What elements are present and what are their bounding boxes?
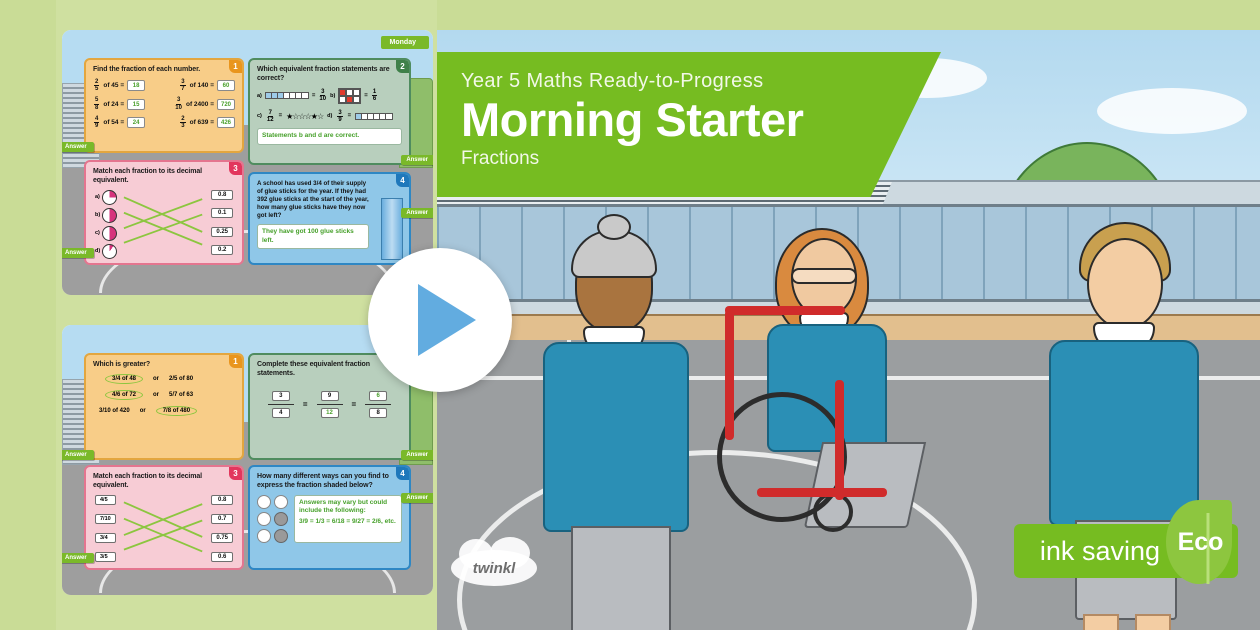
of-text: of 24 = (103, 101, 124, 108)
student-girl-wheelchair (727, 220, 957, 550)
pie-chart-icon (102, 244, 117, 259)
item-label: c) (257, 113, 262, 119)
of-text: of 140 = (190, 82, 214, 89)
answer-box: 24 (127, 117, 145, 128)
jumper (1049, 340, 1199, 526)
answer-tab-q4[interactable]: Answer (401, 493, 433, 503)
fraction-numerator: 5 (94, 97, 99, 104)
jumper (543, 342, 689, 532)
answer-text: They have got 100 glue sticks left. (257, 224, 369, 249)
of-text: of 45 = (103, 82, 124, 89)
or-text: or (153, 376, 159, 382)
decimals-column: 0.8 0.7 0.75 0.6 (211, 495, 233, 563)
decimal-value: 0.6 (211, 552, 233, 562)
decimals-column: 0.8 0.1 0.25 0.2 (211, 190, 233, 256)
compare-row: 4/6 of 72 or 5/7 of 63 (105, 390, 235, 400)
equivalent-row-cd: c) 712 = ★☆☆☆★☆ d) 39 = (257, 110, 402, 124)
fraction-numerator: 4 (94, 116, 99, 123)
compare-left: 4/6 of 72 (105, 390, 143, 400)
slide2-question-3[interactable]: 3 Match each fraction to its decimal equ… (84, 465, 244, 570)
item-label: d) (95, 248, 100, 254)
patka-knot (597, 214, 631, 240)
fraction-denominator: 3 (181, 123, 184, 129)
counters-grid (257, 495, 288, 543)
question-title: Match each fraction to its decimal equiv… (93, 168, 235, 186)
grid-model (338, 88, 361, 104)
decimal-value: 0.8 (211, 495, 233, 505)
slide-thumbnail-1[interactable]: Monday 1 Find the fraction of each numbe… (62, 30, 433, 295)
question-title: Match each fraction to its decimal equiv… (93, 473, 235, 491)
answer-box: 18 (127, 80, 145, 91)
fraction-value: 3/4 (95, 533, 116, 543)
equation-row: 58 of 24 = 15 310 of 2400 = 720 (93, 97, 235, 111)
wheelchair-frame (835, 380, 844, 500)
question-title: How many different ways can you find to … (257, 473, 402, 491)
page-title: Morning Starter (461, 95, 941, 144)
fraction-denominator: 7 (181, 86, 184, 92)
eco-label: ink saving (1040, 536, 1160, 567)
item-label: a) (257, 93, 262, 99)
fraction-denominator: 9 (95, 123, 98, 129)
compare-row: 3/4 of 48 or 2/5 of 80 (105, 374, 235, 384)
wheelchair-footrest (757, 488, 887, 497)
banner-kicker: Year 5 Maths Ready-to-Progress (461, 70, 941, 93)
fraction-cell[interactable]: 4 (272, 408, 290, 418)
equation-row: 49 of 54 = 24 23 of 639 = 426 (93, 116, 235, 130)
answer-text: Statements b and d are correct. (257, 128, 402, 144)
answer-tab-q4[interactable]: Answer (401, 208, 433, 218)
question-number: 4 (396, 174, 409, 187)
glasses-icon (791, 268, 857, 284)
answer-block: Answers may vary but could include the f… (294, 495, 402, 543)
leg (1083, 614, 1119, 630)
answer-box: 720 (217, 99, 235, 110)
compare-row: 3/10 of 420 or 7/8 of 480 (99, 406, 235, 416)
pie-chart-icon (102, 208, 117, 223)
equivalent-row-ab: a) = 310 b) = 16 (257, 88, 402, 104)
student-boy-left (527, 230, 717, 630)
of-text: of 2400 = (186, 101, 214, 108)
fraction-cell[interactable]: 12 (321, 408, 339, 418)
question-title: Which equivalent fraction statements are… (257, 66, 402, 84)
fraction-denominator: 8 (95, 105, 98, 111)
question-number: 4 (396, 467, 409, 480)
compare-left: 3/4 of 48 (105, 374, 143, 384)
or-text: or (153, 392, 159, 398)
star-group-icon: ★☆☆☆★☆ (286, 112, 323, 121)
matching-activity: 4/5 7/10 3/4 3/5 0.8 0.7 0.75 (93, 495, 235, 563)
question-number: 3 (229, 467, 242, 480)
fraction-cell[interactable]: 8 (369, 408, 387, 418)
question-title: A school has used 3/4 of their supply of… (257, 180, 369, 220)
item-label: b) (95, 212, 100, 218)
head (1087, 238, 1163, 330)
answer-tab-q1[interactable]: Answer (62, 450, 94, 460)
eco-badge-text: Eco (1178, 528, 1224, 557)
fraction-cell[interactable]: 6 (369, 391, 387, 401)
banner-subtitle: Fractions (461, 148, 941, 170)
slide1-question-1[interactable]: 1 Find the fraction of each number. 25 o… (84, 58, 244, 153)
matching-activity: a) b) c) d) 0.8 0.1 0.25 (93, 190, 235, 256)
fraction-numerator: 3 (176, 97, 181, 104)
question-title: Complete these equivalent fraction state… (257, 361, 402, 379)
question-number: 1 (229, 355, 242, 368)
answer-tab-q3[interactable]: Answer (62, 553, 94, 563)
wheelchair-frame (725, 306, 845, 315)
fraction-numerator: 2 (180, 116, 185, 123)
bar-model (355, 113, 393, 120)
question-title: Which is greater? (93, 361, 235, 370)
item-label: d) (327, 113, 332, 119)
question-number: 2 (396, 60, 409, 73)
answer-tab-q2[interactable]: Answer (401, 450, 433, 460)
fraction-pies-column: a) b) c) d) (95, 190, 117, 256)
of-text: of 54 = (103, 119, 124, 126)
answer-tab-q2[interactable]: Answer (401, 155, 433, 165)
play-button[interactable] (368, 248, 512, 392)
twinkl-logo: twinkl (451, 550, 537, 586)
decimal-value: 0.8 (211, 190, 233, 200)
pie-chart-icon (102, 226, 117, 241)
answer-title: Answers may vary but could include the f… (299, 499, 397, 516)
decimal-value: 0.25 (211, 227, 233, 237)
leaf-icon: Eco (1166, 500, 1232, 584)
answer-box: 60 (217, 80, 235, 91)
compare-right: 2/5 of 80 (169, 376, 193, 382)
fraction-numerator: 3 (180, 79, 185, 86)
fraction-value: 7/10 (95, 514, 116, 524)
compare-left: 3/10 of 420 (99, 408, 130, 414)
decimal-value: 0.7 (211, 514, 233, 524)
slide2-question-1[interactable]: 1 Which is greater? 3/4 of 48 or 2/5 of … (84, 353, 244, 460)
decimal-value: 0.75 (211, 533, 233, 543)
answer-box: 15 (127, 99, 145, 110)
slide2-question-4[interactable]: 4 How many different ways can you find t… (248, 465, 411, 570)
title-banner: Year 5 Maths Ready-to-Progress Morning S… (437, 52, 941, 197)
fraction-cell[interactable]: 9 (321, 391, 339, 401)
cover-illustration: Year 5 Maths Ready-to-Progress Morning S… (437, 30, 1260, 630)
decimal-value: 0.1 (211, 208, 233, 218)
slide1-question-3[interactable]: 3 Match each fraction to its decimal equ… (84, 160, 244, 265)
play-icon (418, 284, 476, 356)
leg (1135, 614, 1171, 630)
question-number: 3 (229, 162, 242, 175)
item-label: b) (330, 93, 335, 99)
fraction-numerator: 2 (94, 79, 99, 86)
compare-right: 5/7 of 63 (169, 392, 193, 398)
shorts (571, 526, 671, 630)
pie-chart-icon (102, 190, 117, 205)
slide1-question-2[interactable]: 2 Which equivalent fraction statements a… (248, 58, 411, 165)
day-tab-monday[interactable]: Monday (381, 36, 429, 49)
question-title: Find the fraction of each number. (93, 66, 235, 75)
answer-tab-q3[interactable]: Answer (62, 248, 94, 258)
answer-box: 426 (217, 117, 235, 128)
wheelchair-caster-wheel (813, 492, 853, 532)
glue-stick-icon (381, 198, 403, 260)
answer-tab-q1[interactable]: Answer (62, 142, 94, 152)
or-text: or (140, 408, 146, 414)
equivalent-fractions-row: 3 4 = 9 12 = 6 8 (257, 391, 402, 418)
fraction-cell[interactable]: 3 (272, 391, 290, 401)
fraction-denominator: 5 (95, 86, 98, 92)
cloud-icon (1097, 88, 1247, 134)
fraction-value: 3/5 (95, 552, 116, 562)
question-number: 1 (229, 60, 242, 73)
bar-model (265, 92, 309, 99)
decimal-value: 0.2 (211, 245, 233, 255)
slideshow-preview-page: Monday 1 Find the fraction of each numbe… (0, 0, 1260, 630)
item-label: a) (95, 194, 100, 200)
slide-thumbnail-2[interactable]: 1 Which is greater? 3/4 of 48 or 2/5 of … (62, 325, 433, 595)
wheelchair-frame (725, 310, 734, 440)
compare-right: 7/8 of 480 (156, 406, 197, 416)
item-label: c) (95, 230, 100, 236)
of-text: of 639 = (190, 119, 214, 126)
logo-text: twinkl (473, 560, 516, 577)
fractions-column: 4/5 7/10 3/4 3/5 (95, 495, 116, 563)
equation-row: 25 of 45 = 18 37 of 140 = 60 (93, 79, 235, 93)
eco-badge: ink saving Eco (1014, 524, 1238, 578)
fraction-denominator: 10 (175, 105, 182, 111)
answer-body: 3/9 = 1/3 = 6/18 = 9/27 = 2/6, etc. (299, 518, 397, 526)
slide1-question-4[interactable]: 4 A school has used 3/4 of their supply … (248, 172, 411, 265)
fraction-value: 4/5 (95, 495, 116, 505)
